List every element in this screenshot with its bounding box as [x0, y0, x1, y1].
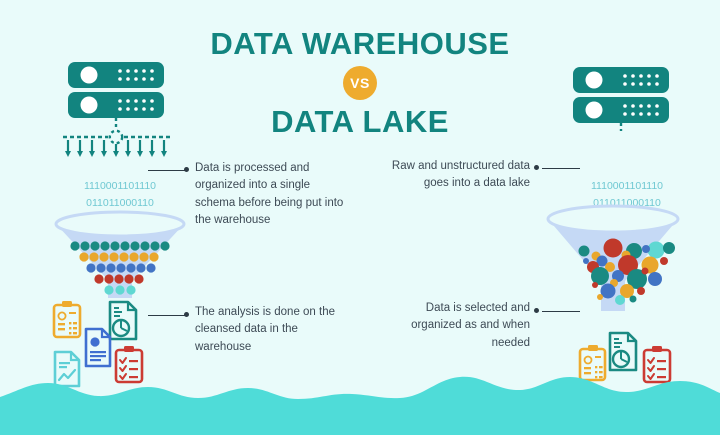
connector-line [542, 168, 580, 169]
clipboard-chart-icon [54, 301, 80, 337]
note-bottom-left: The analysis is done on the cleansed dat… [195, 304, 350, 356]
connector-line [148, 170, 186, 171]
wave-decoration [0, 373, 720, 435]
report-pie-icon [110, 302, 136, 339]
infographic-canvas: DATA WAREHOUSE VS DATA LAKE [0, 0, 720, 435]
title-data-warehouse: DATA WAREHOUSE [0, 28, 720, 59]
connector-dot [534, 165, 539, 170]
connector-top-right [534, 163, 580, 173]
vs-badge: VS [343, 66, 377, 100]
binary-line: 1110001101110 [55, 178, 185, 195]
binary-line: 1110001101110 [562, 178, 692, 195]
server-rack-icon-left [58, 58, 178, 158]
note-top-right: Raw and unstructured data goes into a da… [385, 158, 530, 193]
report-pie-icon [610, 333, 636, 370]
server-rack-icon-right [563, 63, 683, 133]
connector-dot [534, 308, 539, 313]
connector-dot [184, 167, 189, 172]
connector-top-left [148, 165, 194, 175]
document-pie-icon [86, 329, 110, 366]
note-bottom-right: Data is selected and organized as and wh… [385, 300, 530, 352]
note-top-left: Data is processed and organized into a s… [195, 160, 345, 230]
connector-dot [184, 312, 189, 317]
connector-bottom-right [534, 306, 580, 316]
funnel-structured-icon [48, 210, 192, 302]
funnel-unstructured-icon [538, 203, 688, 315]
connector-line [542, 311, 580, 312]
